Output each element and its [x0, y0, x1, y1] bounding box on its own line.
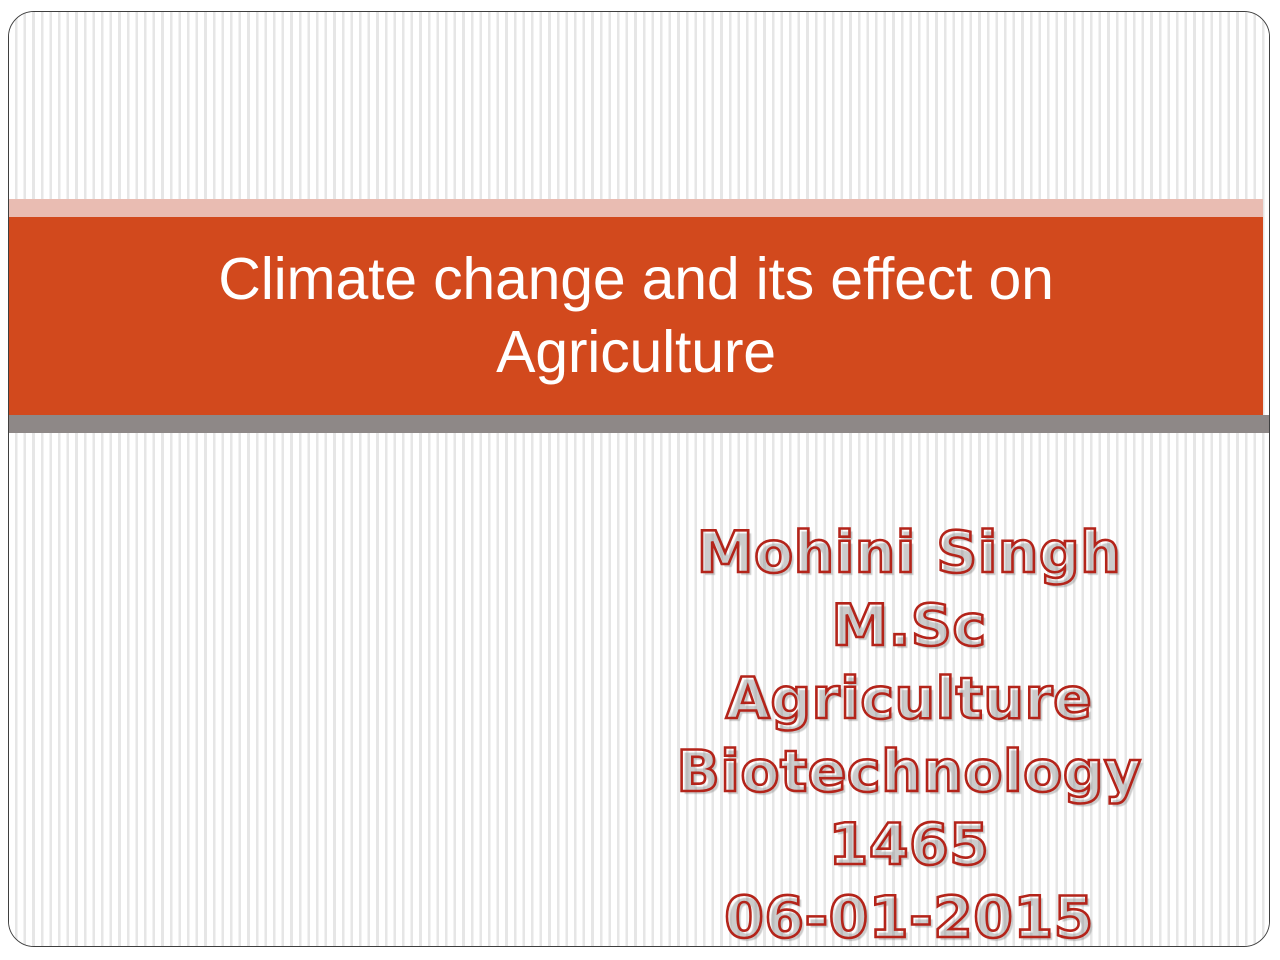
- title-banner-pink-accent: [9, 199, 1263, 217]
- subtitle-line-roll-number: 1465: [649, 809, 1169, 882]
- presentation-slide: Climate change and its effect on Agricul…: [8, 11, 1270, 947]
- subtitle-line-field: Agriculture: [649, 663, 1169, 736]
- subtitle-line-specialty: Biotechnology: [649, 736, 1169, 809]
- subtitle-line-date: 06-01-2015: [649, 882, 1169, 947]
- subtitle-line-author: Mohini Singh: [649, 517, 1169, 590]
- slide-title: Climate change and its effect on Agricul…: [9, 217, 1263, 415]
- subtitle-wordart: Mohini Singh M.Sc Agriculture Biotechnol…: [649, 517, 1169, 947]
- subtitle-line-degree: M.Sc: [649, 590, 1169, 663]
- title-banner-gray-accent: [9, 415, 1270, 433]
